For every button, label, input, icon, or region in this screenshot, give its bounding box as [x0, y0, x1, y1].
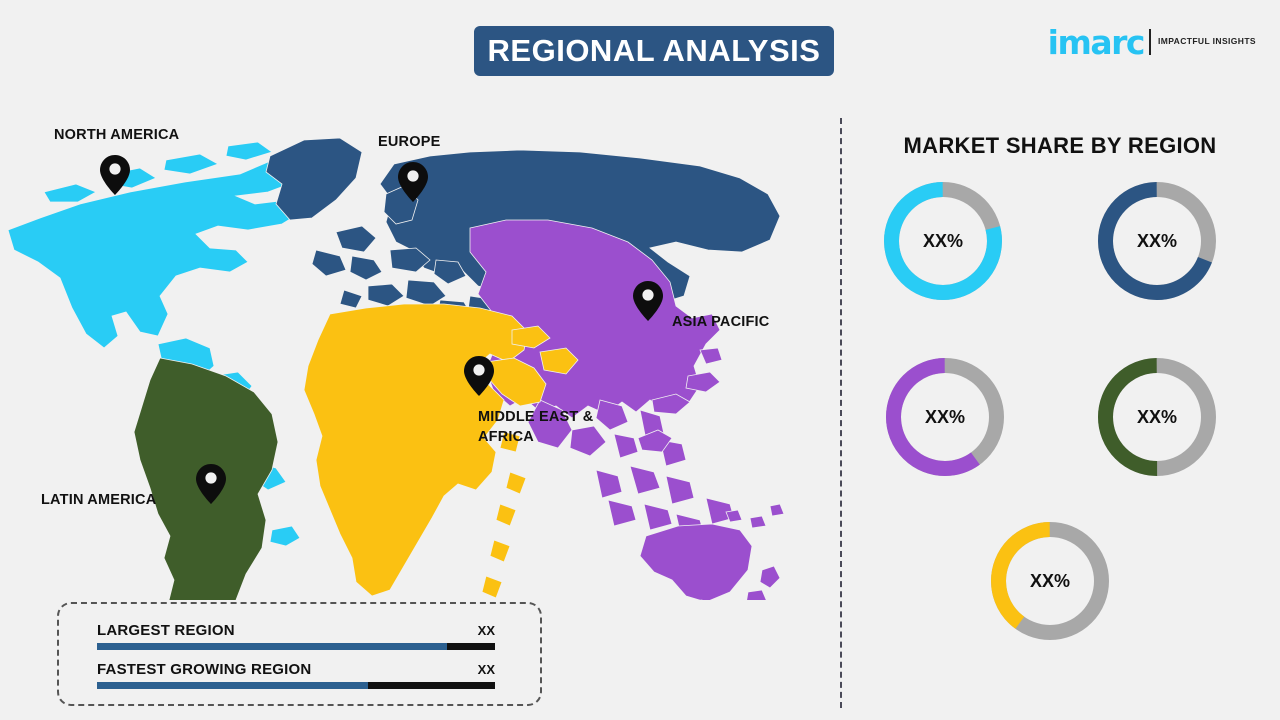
page-title: REGIONAL ANALYSIS [488, 33, 821, 69]
donut-chart-north-america: XX% [884, 182, 1002, 300]
legend-label: LARGEST REGION [97, 622, 235, 639]
map-label-europe: EUROPE [378, 133, 440, 153]
legend-label: FASTEST GROWING REGION [97, 661, 311, 678]
legend-value: XX [478, 662, 495, 677]
legend-row-fastest-growing-region: FASTEST GROWING REGION XX [97, 661, 495, 689]
market-share-panel-title: MARKET SHARE BY REGION [840, 133, 1280, 159]
map-pin-europe[interactable] [398, 162, 428, 207]
page-title-bar: REGIONAL ANALYSIS [474, 26, 834, 76]
panel-divider [840, 118, 842, 708]
donut-value-label: XX% [1098, 358, 1216, 476]
region-summary-box: LARGEST REGION XX FASTEST GROWING REGION… [57, 602, 542, 706]
map-region-greenland [266, 138, 362, 220]
legend-bar-fill [97, 643, 447, 650]
map-pin-north-america[interactable] [100, 155, 130, 200]
map-pin-asia-pacific[interactable] [633, 281, 663, 326]
logo-tagline: IMPACTFUL INSIGHTS [1158, 36, 1256, 47]
map-region-antarctica-islands [270, 526, 300, 546]
legend-row-largest-region: LARGEST REGION XX [97, 622, 495, 650]
map-label-north-america: NORTH AMERICA [54, 126, 179, 146]
map-pin-middle-east-africa[interactable] [464, 356, 494, 401]
map-pin-latin-america[interactable] [196, 464, 226, 509]
logo-divider [1149, 29, 1151, 55]
donut-value-label: XX% [884, 182, 1002, 300]
donut-chart-latin-america: XX% [1098, 358, 1216, 476]
legend-value: XX [478, 623, 495, 638]
legend-bar-track [97, 643, 495, 650]
donut-chart-asia-pacific: XX% [886, 358, 1004, 476]
donut-value-label: XX% [991, 522, 1109, 640]
regional-analysis-infographic: REGIONAL ANALYSIS imarc IMPACTFUL INSIGH… [0, 0, 1280, 720]
donut-value-label: XX% [886, 358, 1004, 476]
legend-bar-fill [97, 682, 368, 689]
legend-bar-track [97, 682, 495, 689]
imarc-logo: imarc IMPACTFUL INSIGHTS [1048, 22, 1256, 62]
map-label-asia-pacific: ASIA PACIFIC [672, 313, 769, 333]
donut-chart-middle-east-africa: XX% [991, 522, 1109, 640]
donut-chart-europe: XX% [1098, 182, 1216, 300]
map-label-middle-east-africa: MIDDLE EAST & AFRICA [478, 408, 593, 447]
map-label-latin-america: LATIN AMERICA [41, 491, 156, 511]
logo-wordmark: imarc [1048, 26, 1144, 59]
donut-value-label: XX% [1098, 182, 1216, 300]
